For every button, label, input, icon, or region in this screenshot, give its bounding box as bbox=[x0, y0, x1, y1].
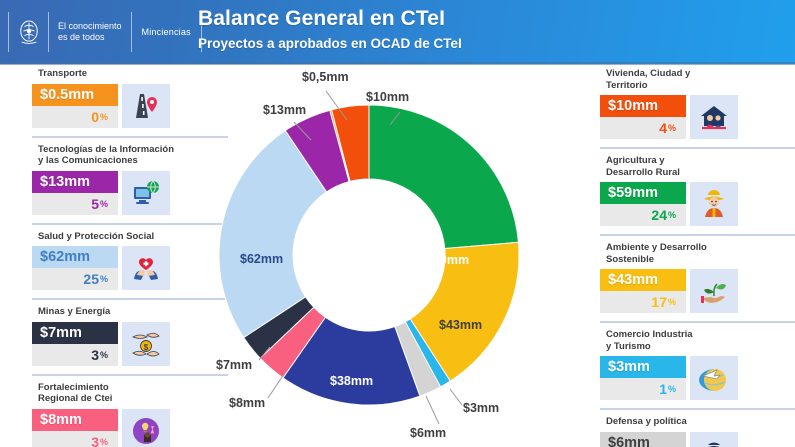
category-percent-value: 17 bbox=[651, 294, 667, 310]
category-card-right-3[interactable]: Comercio Industriay Turismo$3mm1% bbox=[600, 327, 795, 403]
percent-sign: % bbox=[100, 112, 108, 122]
police-officer-icon bbox=[690, 432, 738, 447]
hands-coin-icon: $ bbox=[122, 322, 170, 366]
category-percent-row: 0% bbox=[32, 106, 118, 128]
category-metrics: $7mm3% bbox=[32, 322, 118, 366]
house-family-icon bbox=[690, 95, 738, 139]
right-category-list: Vivienda, Ciudad yTerritorio$10mm4%Agric… bbox=[600, 66, 795, 447]
category-metrics: $6mm3% bbox=[600, 432, 686, 447]
category-percent-row: 17% bbox=[600, 291, 686, 313]
category-card-right-4[interactable]: Defensa y política$6mm3% bbox=[600, 414, 795, 447]
category-metrics: $3mm1% bbox=[600, 356, 686, 400]
category-percent-row: 5% bbox=[32, 193, 118, 215]
slice-label-10: $10mm bbox=[366, 90, 409, 104]
category-percent-value: 25 bbox=[83, 271, 99, 287]
category-percent-row: 3% bbox=[32, 344, 118, 366]
page-subtitle: Proyectos a aprobados en OCAD de CTeI bbox=[198, 36, 462, 51]
category-percent-value: 3 bbox=[91, 347, 99, 363]
category-card-left-1[interactable]: Tecnologías de la Informacióny las Comun… bbox=[32, 142, 228, 218]
idea-science-icon bbox=[122, 409, 170, 447]
header-title-block: Balance General en CTeI Proyectos a apro… bbox=[198, 7, 462, 51]
category-divider bbox=[32, 136, 228, 138]
category-percent-value: 4 bbox=[659, 120, 667, 136]
category-percent-row: 25% bbox=[32, 268, 118, 290]
category-amount: $43mm bbox=[600, 269, 686, 291]
category-metrics: $8mm3% bbox=[32, 409, 118, 447]
brand-tagline-line1: El conocimiento bbox=[58, 21, 122, 32]
category-amount: $0.5mm bbox=[32, 84, 118, 106]
category-amount: $6mm bbox=[600, 432, 686, 447]
percent-sign: % bbox=[100, 274, 108, 284]
category-title: Ambiente y DesarrolloSostenible bbox=[606, 242, 795, 265]
slice-label-8: $8mm bbox=[229, 396, 265, 410]
category-amount: $59mm bbox=[600, 182, 686, 204]
percent-sign: % bbox=[668, 297, 676, 307]
sprout-hand-icon bbox=[690, 269, 738, 313]
category-amount: $62mm bbox=[32, 246, 118, 268]
category-card-body: $7mm3%$ bbox=[32, 322, 228, 366]
brand-tagline-line2: es de todos bbox=[58, 32, 122, 43]
category-card-body: $3mm1% bbox=[600, 356, 795, 400]
category-divider bbox=[600, 234, 795, 236]
donut-chart: $59mm $43mm $38mm $62mm $0,5mm $10mm $13… bbox=[214, 64, 596, 447]
category-amount: $7mm bbox=[32, 322, 118, 344]
slice-label-43: $43mm bbox=[439, 318, 482, 332]
category-card-body: $59mm24% bbox=[600, 182, 795, 226]
category-amount: $8mm bbox=[32, 409, 118, 431]
category-card-body: $13mm5% bbox=[32, 171, 228, 215]
category-title: Salud y Protección Social bbox=[38, 231, 228, 243]
slice-label-13: $13mm bbox=[263, 103, 306, 117]
category-card-body: $10mm4% bbox=[600, 95, 795, 139]
category-percent-row: 4% bbox=[600, 117, 686, 139]
category-card-left-3[interactable]: Minas y Energía$7mm3%$ bbox=[32, 304, 228, 369]
category-card-body: $43mm17% bbox=[600, 269, 795, 313]
percent-sign: % bbox=[100, 437, 108, 447]
percent-sign: % bbox=[100, 199, 108, 209]
page-header: El conocimiento es de todos Minciencias … bbox=[0, 0, 795, 64]
category-divider bbox=[600, 408, 795, 410]
category-percent-value: 3 bbox=[91, 434, 99, 447]
category-metrics: $0.5mm0% bbox=[32, 84, 118, 128]
slice-label-62: $62mm bbox=[240, 252, 283, 266]
slide-root: El conocimiento es de todos Minciencias … bbox=[0, 0, 795, 447]
farmer-icon bbox=[690, 182, 738, 226]
category-percent-value: 0 bbox=[91, 109, 99, 125]
category-card-right-2[interactable]: Ambiente y DesarrolloSostenible$43mm17% bbox=[600, 240, 795, 316]
slice-leader-line bbox=[450, 389, 462, 405]
category-divider bbox=[32, 223, 228, 225]
percent-sign: % bbox=[100, 350, 108, 360]
category-divider bbox=[32, 374, 228, 376]
category-title: Agricultura yDesarrollo Rural bbox=[606, 155, 795, 178]
category-card-body: $8mm3% bbox=[32, 409, 228, 447]
slice-label-7: $7mm bbox=[216, 358, 252, 372]
road-pin-icon bbox=[122, 84, 170, 128]
left-category-list: Transporte$0.5mm0%Tecnologías de la Info… bbox=[32, 66, 228, 447]
percent-sign: % bbox=[668, 123, 676, 133]
page-title: Balance General en CTeI bbox=[198, 7, 462, 31]
category-card-right-1[interactable]: Agricultura yDesarrollo Rural$59mm24% bbox=[600, 153, 795, 229]
category-title: Transporte bbox=[38, 68, 228, 80]
brand-tagline: El conocimiento es de todos bbox=[49, 12, 132, 52]
slice-label-3: $3mm bbox=[463, 401, 499, 415]
category-percent-row: 1% bbox=[600, 378, 686, 400]
slice-leader-line bbox=[268, 374, 284, 398]
brand-entity-label: Minciencias bbox=[132, 12, 201, 52]
category-metrics: $62mm25% bbox=[32, 246, 118, 290]
category-amount: $3mm bbox=[600, 356, 686, 378]
category-metrics: $43mm17% bbox=[600, 269, 686, 313]
category-percent-value: 1 bbox=[659, 381, 667, 397]
category-metrics: $10mm4% bbox=[600, 95, 686, 139]
category-card-left-4[interactable]: FortalecimientoRegional de Ctei$8mm3% bbox=[32, 380, 228, 447]
category-card-body: $0.5mm0% bbox=[32, 84, 228, 128]
category-percent-row: 24% bbox=[600, 204, 686, 226]
category-card-left-2[interactable]: Salud y Protección Social$62mm25% bbox=[32, 229, 228, 294]
percent-sign: % bbox=[668, 384, 676, 394]
category-title: Comercio Industriay Turismo bbox=[606, 329, 795, 352]
svg-text:$: $ bbox=[144, 343, 149, 352]
category-divider bbox=[32, 298, 228, 300]
computer-globe-icon bbox=[122, 171, 170, 215]
slice-label-59: $59mm bbox=[426, 253, 469, 267]
slice-leader-line bbox=[426, 396, 439, 424]
category-title: Defensa y política bbox=[606, 416, 795, 428]
slice-label-05: $0,5mm bbox=[302, 70, 349, 84]
donut-slice-59mm[interactable] bbox=[369, 105, 518, 249]
category-metrics: $59mm24% bbox=[600, 182, 686, 226]
category-title: Vivienda, Ciudad yTerritorio bbox=[606, 68, 795, 91]
category-card-right-0[interactable]: Vivienda, Ciudad yTerritorio$10mm4% bbox=[600, 66, 795, 142]
category-divider bbox=[600, 147, 795, 149]
category-amount: $10mm bbox=[600, 95, 686, 117]
category-percent-value: 24 bbox=[651, 207, 667, 223]
category-card-body: $62mm25% bbox=[32, 246, 228, 290]
category-percent-row: 3% bbox=[32, 431, 118, 447]
category-amount: $13mm bbox=[32, 171, 118, 193]
category-title: Tecnologías de la Informacióny las Comun… bbox=[38, 144, 228, 167]
percent-sign: % bbox=[668, 210, 676, 220]
category-metrics: $13mm5% bbox=[32, 171, 118, 215]
category-card-body: $6mm3% bbox=[600, 432, 795, 447]
brand-lockup: El conocimiento es de todos Minciencias bbox=[8, 12, 202, 52]
category-title: FortalecimientoRegional de Ctei bbox=[38, 382, 228, 405]
category-title: Minas y Energía bbox=[38, 306, 228, 318]
category-card-left-0[interactable]: Transporte$0.5mm0% bbox=[32, 66, 228, 131]
slice-label-6: $6mm bbox=[410, 426, 446, 440]
plane-globe-icon bbox=[690, 356, 738, 400]
category-percent-value: 5 bbox=[91, 196, 99, 212]
category-divider bbox=[600, 321, 795, 323]
colombia-coat-of-arms-icon bbox=[9, 12, 49, 52]
hands-heart-icon bbox=[122, 246, 170, 290]
slice-label-38: $38mm bbox=[330, 374, 373, 388]
